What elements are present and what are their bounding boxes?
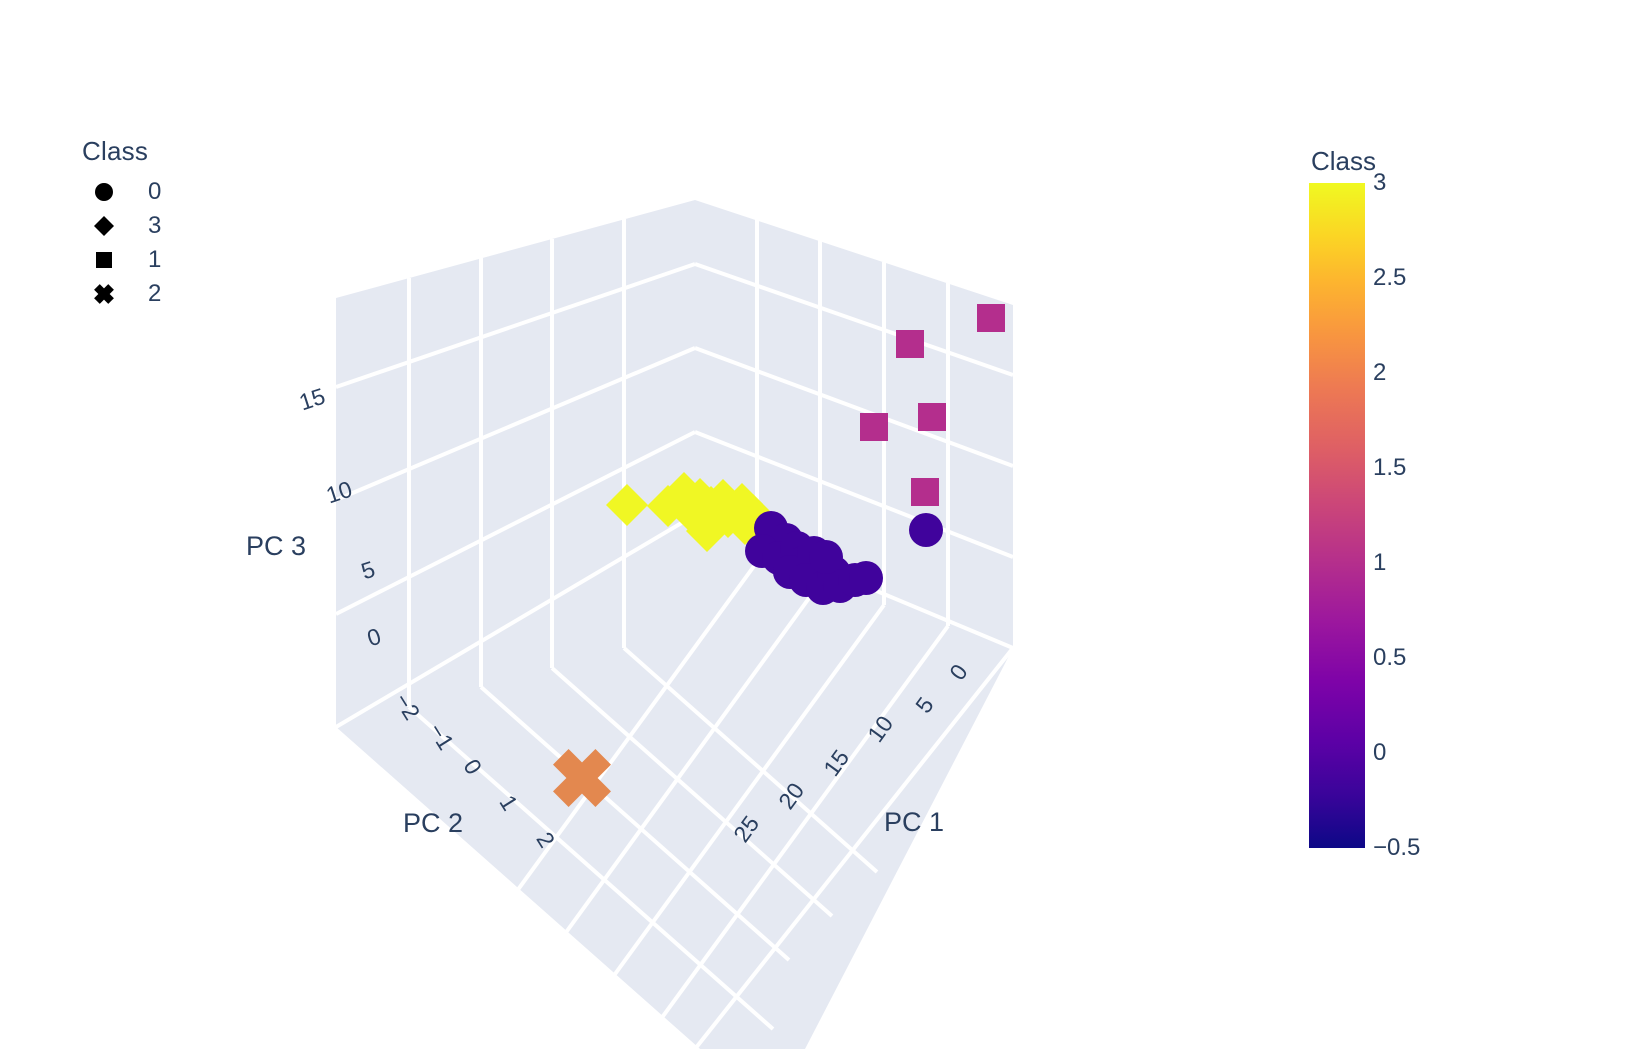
legend-item-0[interactable]: 0	[82, 175, 161, 209]
legend-label: 1	[148, 246, 161, 274]
marker-circle[interactable]	[809, 540, 843, 574]
marker-square[interactable]	[911, 478, 939, 506]
axis-y-title: PC 2	[403, 808, 463, 839]
colorbar-tick: −0.5	[1373, 834, 1420, 862]
colorbar-tick: 1	[1373, 549, 1386, 577]
marker-square[interactable]	[918, 403, 946, 431]
circle-icon	[82, 181, 126, 203]
legend: Class 0 3 1	[82, 136, 161, 311]
marker-square[interactable]	[977, 304, 1005, 332]
x-icon	[82, 283, 126, 305]
colorbar[interactable]: Class 3 2.5 2 1.5 1 0.5 0 −0.5	[1309, 146, 1376, 848]
legend-item-1[interactable]: 1	[82, 243, 161, 277]
colorbar-tick: 1.5	[1373, 454, 1406, 482]
legend-title: Class	[82, 136, 161, 167]
marker-circle[interactable]	[849, 561, 883, 595]
legend-item-3[interactable]: 3	[82, 209, 161, 243]
colorbar-gradient	[1309, 183, 1365, 848]
axis-x-title: PC 1	[884, 807, 944, 838]
diamond-icon	[82, 215, 126, 237]
legend-label: 2	[148, 280, 161, 308]
colorbar-tick: 0	[1373, 739, 1386, 767]
colorbar-tick: 2	[1373, 359, 1386, 387]
square-icon	[82, 249, 126, 271]
colorbar-ticks: 3 2.5 2 1.5 1 0.5 0 −0.5	[1373, 183, 1493, 848]
marker-square[interactable]	[860, 413, 888, 441]
legend-item-2[interactable]: 2	[82, 277, 161, 311]
legend-label: 3	[148, 212, 161, 240]
colorbar-body[interactable]: 3 2.5 2 1.5 1 0.5 0 −0.5	[1309, 183, 1376, 848]
plot-root: 15 10 5 0 PC 3 −2 −1 0 1 2 PC 2 0 5 10 1…	[0, 0, 1626, 1049]
marker-square[interactable]	[896, 330, 924, 358]
marker-circle[interactable]	[909, 513, 943, 547]
axis-z-title: PC 3	[246, 531, 306, 562]
colorbar-tick: 0.5	[1373, 644, 1406, 672]
colorbar-tick: 3	[1373, 169, 1386, 197]
colorbar-title: Class	[1311, 146, 1376, 177]
legend-label: 0	[148, 178, 161, 206]
colorbar-tick: 2.5	[1373, 264, 1406, 292]
